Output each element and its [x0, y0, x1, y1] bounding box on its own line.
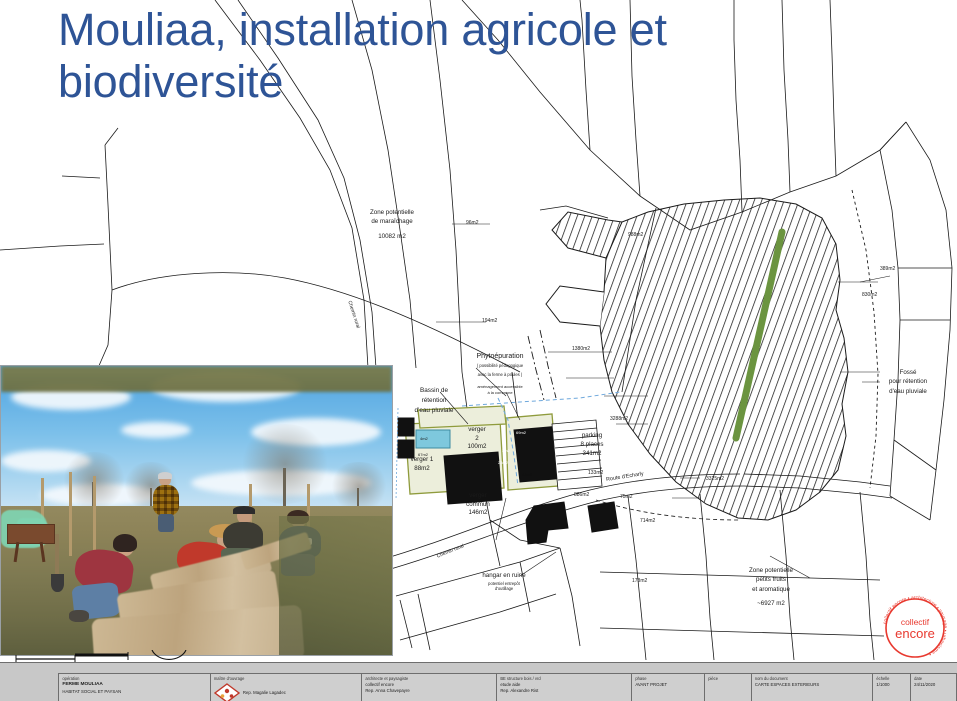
- dimension-label: 988m2: [628, 232, 643, 238]
- collectif-encore-stamp: collectif encore • architecture • paysag…: [878, 592, 952, 658]
- maison-paysanne-logo-icon: [214, 683, 240, 701]
- title-block-bureau-etudes: BE structure bois / vrd etude aide Rep. …: [496, 673, 631, 701]
- dimension-label: 389m2: [880, 266, 895, 272]
- label-line: 2: [475, 435, 478, 442]
- dimension-label: 3325m2: [706, 476, 724, 482]
- field-value-2: Rep. Anna Chavepayre: [365, 688, 493, 694]
- title-block-nom-document: nom du document CARTE ESPACES EXTERIEURS: [751, 673, 873, 701]
- label-hangar-ruine: hangar en ruine potentiel entrepôt d'out…: [464, 572, 544, 592]
- photo-bank: [279, 516, 392, 655]
- label-line: d'eau pluviale: [889, 388, 927, 395]
- shovel-blade: [51, 574, 64, 592]
- wheelbarrow: [7, 524, 53, 562]
- label-fosse-retention: Fossé pour rétention d'eau pluviale: [868, 368, 948, 396]
- label-area: 10082 m2: [344, 232, 440, 241]
- dimension-label: 133m2: [588, 470, 603, 476]
- label-line: Fossé: [900, 369, 917, 376]
- title-block-piece: pièce: [704, 673, 751, 701]
- dimension-label: 173m2: [632, 578, 647, 584]
- field-value: AVANT PROJET: [635, 682, 701, 688]
- label-line: potentiel entrepôt: [488, 581, 520, 586]
- field-value: FERME MOULIAA: [62, 682, 206, 689]
- dimension-label: 3m2: [502, 448, 510, 453]
- label-area: 100m2: [468, 443, 487, 450]
- dimension-label: 4m2: [420, 436, 428, 441]
- stake: [69, 472, 72, 556]
- dimension-label: 886m2: [574, 492, 589, 498]
- label-line: parking: [582, 432, 602, 439]
- dimension-label: 1380m2: [572, 346, 590, 352]
- field-label: maître d'ouvrage: [214, 676, 358, 682]
- dimension-label: 41m2: [522, 472, 532, 477]
- dimension-label: 23m2: [498, 460, 508, 465]
- label-line: Phytoépuration: [476, 353, 523, 360]
- label-area: 341m2: [583, 450, 602, 457]
- dimension-label: 830m2: [862, 292, 877, 298]
- label-line: rétention: [422, 397, 447, 404]
- dimension-label: 96m2: [466, 220, 479, 226]
- dimension-label: 69m2: [516, 430, 526, 435]
- dimension-label: 714m2: [640, 518, 655, 524]
- label-line: commun: [466, 501, 490, 508]
- title-block-echelle: échelle 1/1000: [872, 673, 910, 701]
- field-value: 24/11/2020: [914, 682, 953, 688]
- title-block-maitre-ouvrage: maître d'ouvrage Rep. Magalie Lagadec: [210, 673, 361, 701]
- label-zone-petits-fruits: Zone potentielle petits fruits et aromat…: [716, 566, 826, 608]
- label-verger-1: verger 1 88m2: [400, 456, 444, 473]
- label-chemin-rural-2: Chemin rural: [436, 543, 465, 559]
- title-block-phase: phase AVANT PROJET: [631, 673, 704, 701]
- stamp-line-2: encore: [895, 626, 935, 641]
- label-verger-2: verger 2 100m2: [456, 426, 498, 452]
- title-block-architecte: architecte et paysagiste collectif encor…: [361, 673, 496, 701]
- label-verger-commun: verger commun 146m2: [452, 492, 504, 518]
- label-line: verger 1: [411, 456, 434, 463]
- label-line: d'eau pluviale: [415, 407, 454, 414]
- label-area: 88m2: [414, 465, 429, 472]
- label-line: Zone potentielle: [370, 209, 414, 216]
- field-value: Rep. Magalie Lagadec: [243, 690, 358, 696]
- dimension-label: 3288m2: [610, 416, 628, 422]
- label-line: d'outillage: [495, 586, 513, 591]
- title-block-operation: opération FERME MOULIAA HABITAT SOCIAL E…: [58, 673, 209, 701]
- label-line: de maraîchage: [371, 218, 412, 225]
- label-line: à la commune: [487, 390, 512, 395]
- field-value-2: Rep. Alexandre Rist: [500, 688, 628, 694]
- label-parking: parking 8 places 341m2: [562, 432, 622, 459]
- field-label: pièce: [708, 676, 748, 682]
- drawing-title-block: opération FERME MOULIAA HABITAT SOCIAL E…: [0, 662, 957, 701]
- label-line: Bassin de: [420, 387, 448, 394]
- label-bassin-retention: Bassin de rétention d'eau pluviale: [396, 386, 472, 416]
- field-value: 1/1000: [876, 682, 907, 688]
- label-line: petits fruits: [756, 576, 786, 583]
- site-photograph: [0, 365, 393, 656]
- label-line: verger: [468, 426, 486, 433]
- label-line: et aromatique: [752, 586, 790, 593]
- dimension-label: 194m2: [482, 318, 497, 324]
- label-line: avec la ferme à poules ): [478, 372, 523, 377]
- label-area: 146m2: [469, 509, 488, 516]
- label-line: hangar en ruine: [482, 572, 525, 579]
- field-value: CARTE ESPACES EXTERIEURS: [755, 682, 870, 688]
- label-line: pour rétention: [889, 378, 927, 385]
- label-line: ( possibilité pédagogique: [477, 363, 523, 368]
- label-area: ~6927 m2: [716, 599, 826, 608]
- title-block-date: date 24/11/2020: [910, 673, 957, 701]
- title-block-pad: [0, 673, 58, 701]
- label-zone-maraichage: Zone potentielle de maraîchage 10082 m2: [344, 208, 440, 241]
- field-value-2: HABITAT SOCIAL ET PAYSAN: [62, 689, 206, 695]
- dimension-label: 75m2: [620, 494, 633, 500]
- cloud: [121, 422, 191, 438]
- label-line: 8 places: [580, 441, 603, 448]
- label-line: aménagement accessible: [477, 384, 522, 389]
- dimension-label: 67m2: [418, 452, 428, 457]
- label-chemin-rural: Chemin rural: [346, 300, 361, 329]
- label-line: Zone potentielle: [749, 567, 793, 574]
- label-line: verger: [469, 492, 487, 499]
- label-route-echarly: Route d'Echarly: [606, 471, 644, 483]
- photo-hedgerow: [1, 366, 392, 392]
